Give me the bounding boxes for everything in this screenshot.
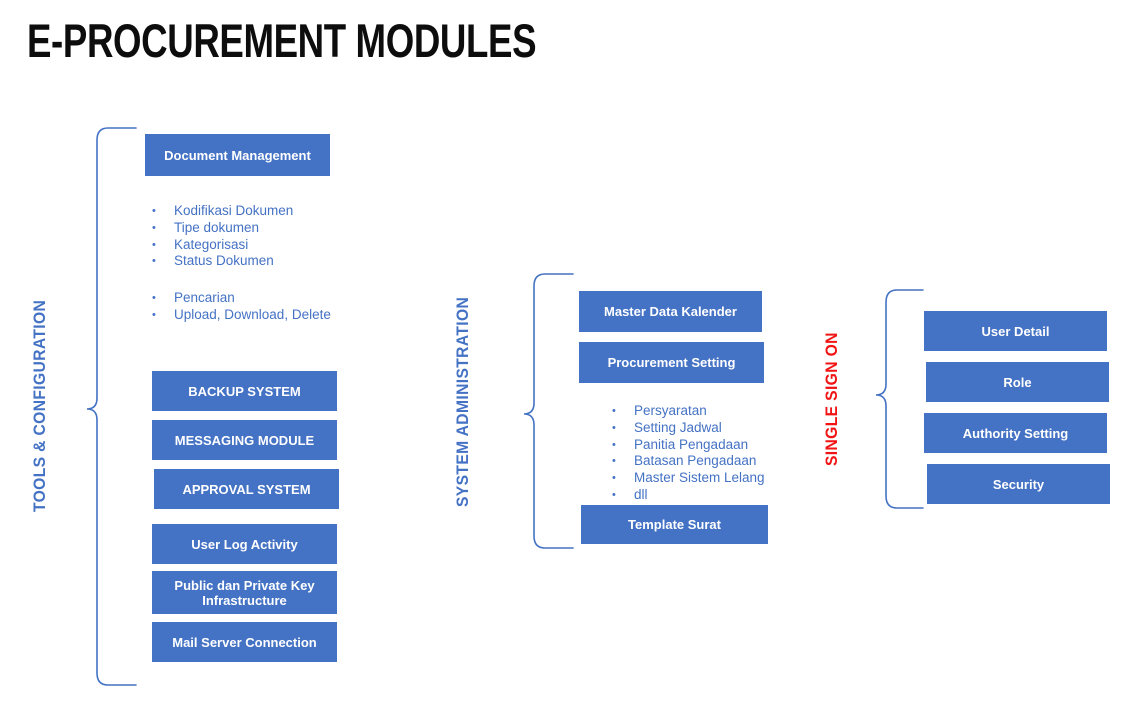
module-box-label: Mail Server Connection — [172, 635, 316, 650]
group-label-tools-configuration: TOOLS & CONFIGURATION — [30, 300, 50, 512]
module-box-master-data-kalender[interactable]: Master Data Kalender — [579, 291, 762, 332]
module-box-label: APPROVAL SYSTEM — [182, 482, 310, 497]
bullet-dot-icon: • — [152, 220, 174, 237]
module-box-label: Authority Setting — [963, 426, 1068, 441]
bullet-item: • Setting Jadwal — [612, 420, 765, 437]
brace-tools — [87, 128, 136, 685]
module-box-label: Public dan Private Key Infrastructure — [158, 578, 331, 608]
brace-single-sign-on — [876, 290, 923, 508]
bullet-item: • Kategorisasi — [152, 237, 331, 254]
module-box-label: Template Surat — [628, 517, 721, 532]
bullet-item: • Panitia Pengadaan — [612, 437, 765, 454]
bullet-item: • Master Sistem Lelang — [612, 470, 765, 487]
module-box-document-management[interactable]: Document Management — [145, 134, 330, 176]
bullet-item: • Status Dokumen — [152, 253, 331, 270]
bullet-dot-icon: • — [152, 307, 174, 324]
bullet-label: Kodifikasi Dokumen — [174, 203, 293, 220]
module-box-template-surat[interactable]: Template Surat — [581, 505, 768, 544]
bullet-label: Setting Jadwal — [634, 420, 722, 437]
module-box-user-detail[interactable]: User Detail — [924, 311, 1107, 351]
bullet-label: Tipe dokumen — [174, 220, 259, 237]
module-box-messaging-module[interactable]: MESSAGING MODULE — [152, 420, 337, 460]
module-box-label: Master Data Kalender — [604, 304, 737, 319]
module-box-label: User Log Activity — [191, 537, 297, 552]
bullet-item: • Batasan Pengadaan — [612, 453, 765, 470]
bullet-dot-icon: • — [152, 237, 174, 254]
bullet-item: • Persyaratan — [612, 403, 765, 420]
bullet-label: Master Sistem Lelang — [634, 470, 765, 487]
page-title: E-PROCUREMENT MODULES — [27, 14, 536, 68]
bullet-dot-icon: • — [152, 253, 174, 270]
bullet-dot-icon: • — [612, 470, 634, 487]
bullet-label: dll — [634, 487, 648, 504]
bullet-dot-icon: • — [612, 403, 634, 420]
module-box-backup-system[interactable]: BACKUP SYSTEM — [152, 371, 337, 411]
bullet-label: Pencarian — [174, 290, 235, 307]
brace-system-administration — [524, 274, 573, 548]
module-box-label: BACKUP SYSTEM — [188, 384, 300, 399]
bullet-item: • Tipe dokumen — [152, 220, 331, 237]
module-box-mail-server-connection[interactable]: Mail Server Connection — [152, 622, 337, 662]
group-label-single-sign-on: SINGLE SIGN ON — [822, 332, 842, 466]
bullet-dot-icon: • — [152, 290, 174, 307]
bullet-label: Kategorisasi — [174, 237, 248, 254]
bullet-dot-icon: • — [612, 437, 634, 454]
module-box-label: Procurement Setting — [608, 355, 736, 370]
module-box-label: MESSAGING MODULE — [175, 433, 314, 448]
bullet-item: • dll — [612, 487, 765, 504]
module-box-procurement-setting[interactable]: Procurement Setting — [579, 342, 764, 383]
bullet-label: Status Dokumen — [174, 253, 274, 270]
module-box-role[interactable]: Role — [926, 362, 1109, 402]
bullet-dot-icon: • — [612, 487, 634, 504]
bullet-label: Upload, Download, Delete — [174, 307, 331, 324]
module-box-security[interactable]: Security — [927, 464, 1110, 504]
bullet-dot-icon: • — [612, 420, 634, 437]
module-box-label: Security — [993, 477, 1044, 492]
bullet-label: Batasan Pengadaan — [634, 453, 756, 470]
bullet-list-spacer — [152, 270, 331, 290]
group-label-system-administration: SYSTEM ADMINISTRATION — [453, 297, 473, 507]
bullet-dot-icon: • — [152, 203, 174, 220]
module-box-authority-setting[interactable]: Authority Setting — [924, 413, 1107, 453]
bullet-item: • Kodifikasi Dokumen — [152, 203, 331, 220]
module-box-label: Document Management — [164, 148, 311, 163]
bullet-label: Panitia Pengadaan — [634, 437, 748, 454]
module-box-label: Role — [1003, 375, 1031, 390]
bullet-label: Persyaratan — [634, 403, 707, 420]
module-box-user-log-activity[interactable]: User Log Activity — [152, 524, 337, 564]
bullet-dot-icon: • — [612, 453, 634, 470]
bullet-item: • Upload, Download, Delete — [152, 307, 331, 324]
bullet-list-document-management: • Kodifikasi Dokumen • Tipe dokumen • Ka… — [152, 203, 331, 324]
bullet-list-procurement-setting: • Persyaratan • Setting Jadwal • Panitia… — [612, 403, 765, 504]
module-box-approval-system[interactable]: APPROVAL SYSTEM — [154, 469, 339, 509]
module-box-public-private-key-infrastructure[interactable]: Public dan Private Key Infrastructure — [152, 571, 337, 614]
bullet-item: • Pencarian — [152, 290, 331, 307]
module-box-label: User Detail — [982, 324, 1050, 339]
